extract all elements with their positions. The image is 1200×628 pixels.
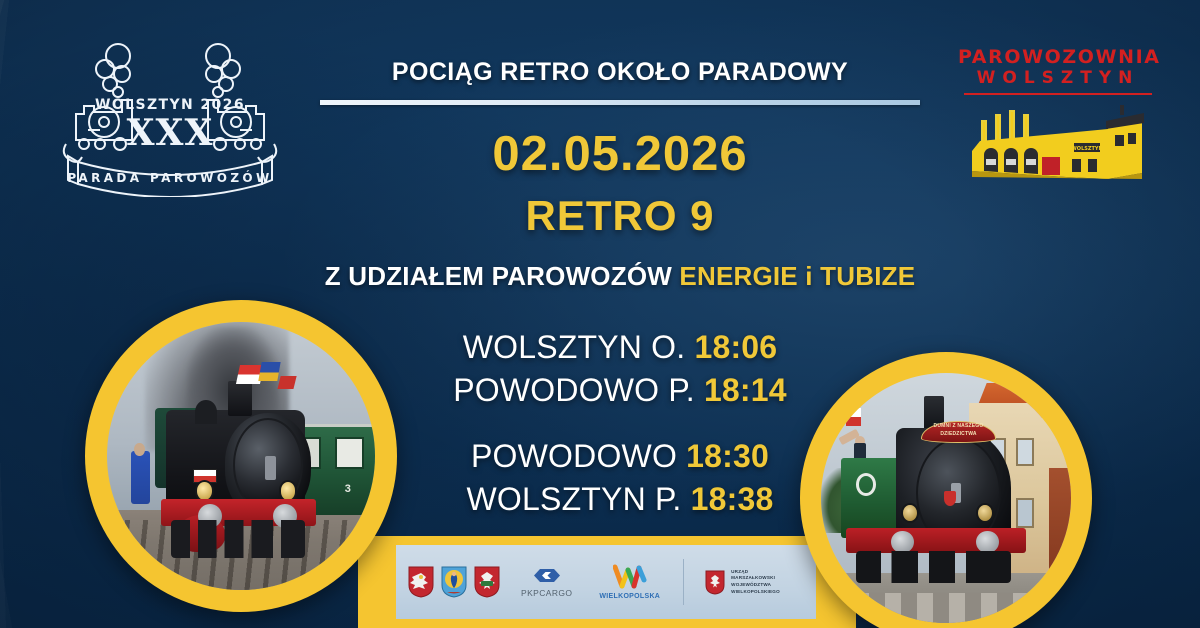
parowozownia-line1: PAROWOZOWNIA (958, 48, 1158, 67)
crest-wolsztyn-county (474, 566, 500, 598)
urzad-marszalkowski-logo: URZĄD MARSZAŁKOWSKI WOJEWÓDZTWA WIELKOPO… (705, 569, 780, 596)
wielkopolska-label: WIELKOPOLSKA (599, 593, 660, 600)
pkp-cargo-label: PKPCARGO (521, 588, 572, 598)
parowozownia-rule (964, 93, 1152, 95)
poster-root: WOLSZTYN 2026 XXX PARADA PAROWOZÓW PAROW… (0, 0, 1200, 628)
page-title: POCIĄG RETRO OKOŁO PARADOWY (300, 58, 940, 87)
station-name: POWODOWO P. (453, 372, 695, 408)
locos-prefix: Z UDZIAŁEM PAROWOZÓW (325, 261, 672, 291)
station-time: 18:38 (691, 481, 774, 517)
loco-name-2: TUBIZE (820, 261, 915, 291)
photo-left-scene: 3 (107, 322, 375, 590)
locomotive-headboard-text: DUMNI Z NASZEGO DZIEDZICTWA (921, 423, 996, 443)
pkp-cargo-logo: PKPCARGO (521, 567, 572, 598)
svg-text:XXX: XXX (127, 112, 214, 154)
train-name: RETRO 9 (300, 194, 940, 238)
sponsor-divider (683, 559, 684, 605)
svg-text:WOLSZTYN: WOLSZTYN (1071, 146, 1102, 152)
parada-parowozow-emblem: WOLSZTYN 2026 XXX PARADA PAROWOZÓW (60, 22, 280, 197)
sponsor-bar: PKPCARGO WIELKOPOLSKA URZĄD MARSZAŁKOWSK… (396, 545, 816, 619)
photo-green-steam-locomotive: DUMNI Z NASZEGO DZIEDZICTWA (800, 352, 1092, 628)
photo-right-inner: DUMNI Z NASZEGO DZIEDZICTWA (821, 373, 1071, 623)
crest-wielkopolska-small (705, 570, 725, 595)
station-name: WOLSZTYN O. (463, 329, 686, 365)
svg-text:WOLSZTYN 2026: WOLSZTYN 2026 (95, 97, 245, 113)
headline-block: POCIĄG RETRO OKOŁO PARADOWY 02.05.2026 R… (300, 58, 940, 292)
photo-left-inner: 3 (107, 322, 375, 590)
loco-conjunction: i (805, 261, 812, 291)
station-time: 18:14 (704, 372, 787, 408)
roundhouse-illustration: WOLSZTYN (958, 99, 1158, 185)
crest-wielkopolska (408, 566, 434, 598)
photo-black-steam-locomotive: 3 (85, 300, 397, 612)
headline-divider (320, 100, 920, 105)
station-time: 18:06 (694, 329, 777, 365)
station-name: POWODOWO (471, 438, 677, 474)
station-time: 18:30 (686, 438, 769, 474)
svg-text:PARADA PAROWOZÓW: PARADA PAROWOZÓW (67, 170, 272, 185)
event-date: 02.05.2026 (300, 129, 940, 180)
wielkopolska-logo: WIELKOPOLSKA (599, 564, 660, 600)
loco-name-1: ENERGIE (679, 261, 797, 291)
station-name: WOLSZTYN P. (467, 481, 682, 517)
wielkopolska-icon (613, 564, 647, 590)
urzad-marszalkowski-label: URZĄD MARSZAŁKOWSKI WOJEWÓDZTWA WIELKOPO… (731, 569, 780, 596)
locomotives-line: Z UDZIAŁEM PAROWOZÓW ENERGIE i TUBIZE (300, 261, 940, 292)
parowozownia-wolsztyn-logo: PAROWOZOWNIA WOLSZTYN (958, 48, 1158, 198)
parowozownia-line2: WOLSZTYN (958, 67, 1158, 90)
crest-wolsztyn-town (441, 566, 467, 598)
timetable-row: WOLSZTYN O. 18:06 (330, 326, 910, 369)
pkp-cargo-icon (532, 567, 562, 584)
photo-right-scene: DUMNI Z NASZEGO DZIEDZICTWA (821, 373, 1071, 623)
